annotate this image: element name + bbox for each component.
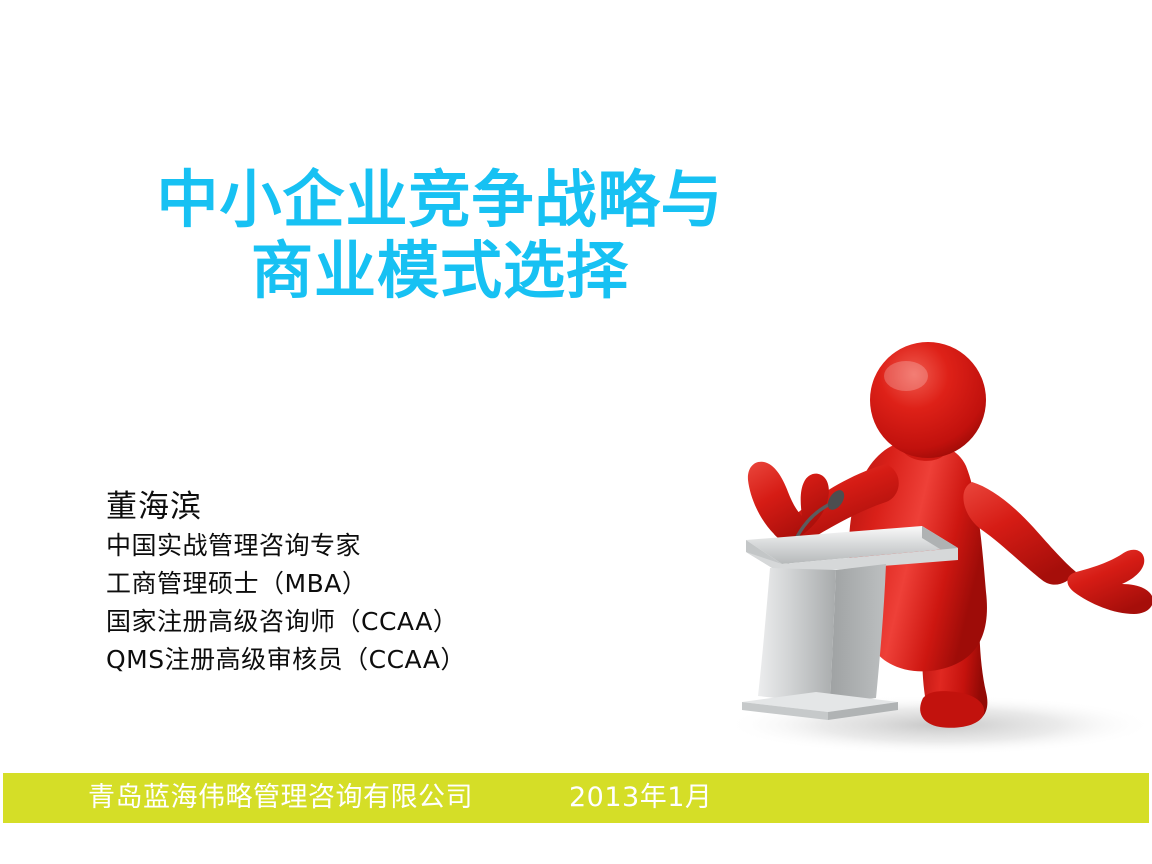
figure-hand-right xyxy=(1067,550,1152,614)
footer-date: 2013年1月 xyxy=(569,781,712,815)
speaker-name: 董海滨 xyxy=(106,487,466,527)
head-highlight xyxy=(884,361,928,391)
presentation-slide: 中小企业竞争战略与 商业模式选择 董海滨 中国实战管理咨询专家 工商管理硕士（M… xyxy=(0,0,1152,864)
podium-column-side xyxy=(830,564,886,704)
speaker-credential-2: 工商管理硕士（MBA） xyxy=(106,565,466,603)
speaker-credential-4: QMS注册高级审核员（CCAA） xyxy=(106,641,466,679)
slide-title: 中小企业竞争战略与 商业模式选择 xyxy=(60,168,820,302)
speaker-credential-3: 国家注册高级咨询师（CCAA） xyxy=(106,603,466,641)
podium-column-front xyxy=(758,568,836,704)
speaker-info: 董海滨 中国实战管理咨询专家 工商管理硕士（MBA） 国家注册高级咨询师（CCA… xyxy=(106,487,466,679)
footer-organization: 青岛蓝海伟略管理咨询有限公司 xyxy=(88,781,473,815)
speaker-credential-1: 中国实战管理咨询专家 xyxy=(106,527,466,565)
footer-bar: 青岛蓝海伟略管理咨询有限公司 2013年1月 xyxy=(3,773,1149,823)
speaker-illustration xyxy=(690,330,1152,760)
slide-title-line-1: 中小企业竞争战略与 xyxy=(60,168,820,231)
slide-title-line-2: 商业模式选择 xyxy=(60,239,820,302)
figure-head xyxy=(870,342,986,458)
